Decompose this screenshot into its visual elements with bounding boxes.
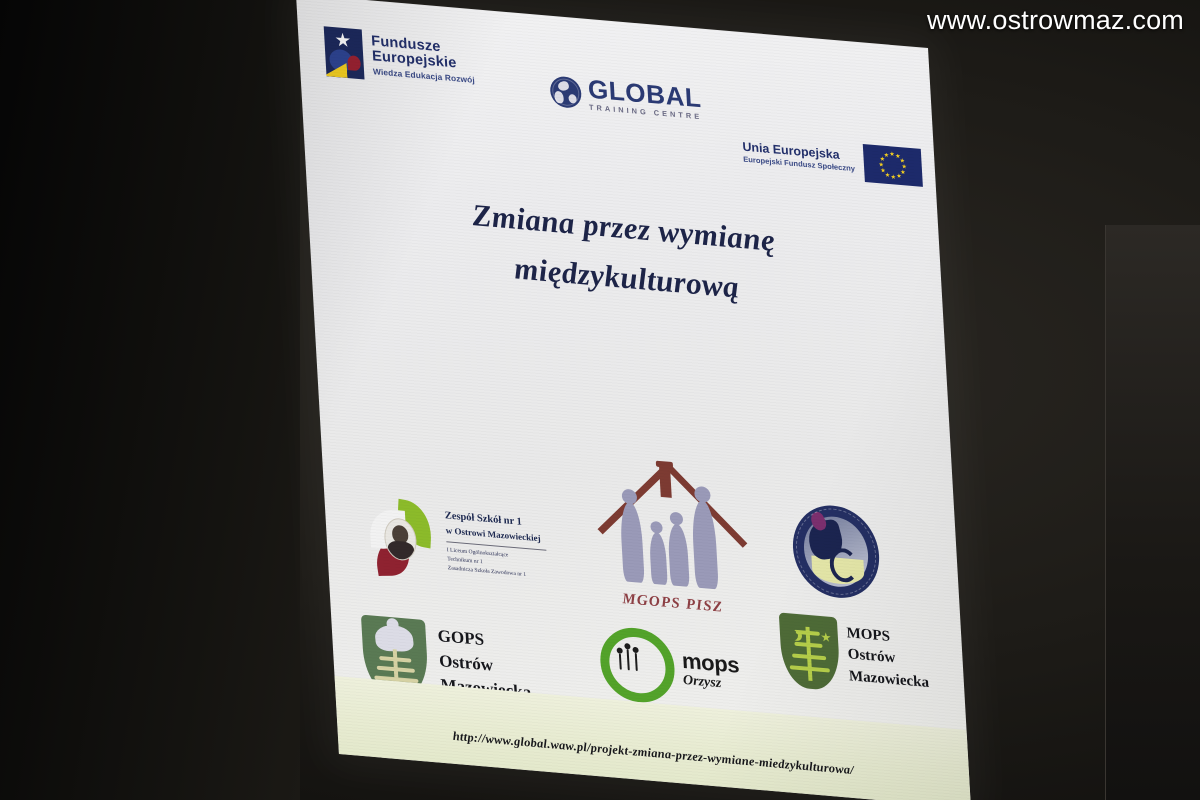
- eu-flag-icon: [863, 144, 923, 187]
- partner-mgops-pisz: MGOPS PISZ: [601, 462, 737, 618]
- mops-orzysz-circle-icon: [598, 625, 676, 705]
- slide-title: Zmiana przez wymianę międzykulturową: [306, 176, 944, 330]
- mops-ostrow-coat-of-arms-icon: [779, 612, 841, 691]
- family-under-roof-icon: [601, 462, 736, 605]
- partner-zespol-szkol: Zespół Szkół nr 1 w Ostrowi Mazowieckiej…: [366, 496, 548, 589]
- fundusze-europejskie-logo: Fundusze Europejskie Wiedza Edukacja Roz…: [324, 26, 476, 89]
- unia-europejska-logo: Unia Europejska Europejski Fundusz Społe…: [742, 134, 923, 187]
- globe-icon: [549, 75, 582, 109]
- fundusze-europejskie-mark-icon: [324, 26, 365, 79]
- circular-emblem-icon: [790, 502, 881, 601]
- partner-mops-orzysz: mops Orzysz: [598, 625, 741, 711]
- global-training-centre-logo: GLOBAL TRAINING CENTRE: [549, 73, 702, 121]
- site-watermark: www.ostrowmaz.com: [927, 5, 1184, 36]
- photo-of-projected-slide: Fundusze Europejskie Wiedza Edukacja Roz…: [0, 0, 1200, 800]
- slide-header-logos: Fundusze Europejskie Wiedza Edukacja Roz…: [296, 0, 936, 198]
- presentation-slide: Fundusze Europejskie Wiedza Edukacja Roz…: [296, 0, 971, 800]
- slide-wrapper: Fundusze Europejskie Wiedza Edukacja Roz…: [0, 0, 1200, 800]
- partner-mops-ostrow: MOPS Ostrów Mazowiecka: [779, 612, 930, 699]
- mops-orzysz-line1: mops: [681, 649, 739, 676]
- zespol-szkol-badge-icon: [366, 496, 440, 580]
